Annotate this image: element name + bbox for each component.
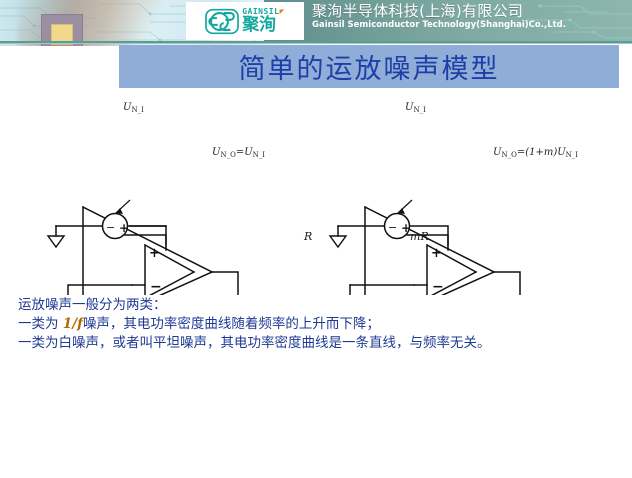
circuit-diagram-area: − + + − — [0, 90, 632, 295]
slide-footer: GAINSIL◤ www.gainsil.com — [0, 428, 632, 478]
company-name-en: Gainsil Semiconductor Technology(Shangha… — [312, 20, 612, 31]
right-opamp-plus-sign: + — [431, 246, 442, 261]
right-source-label: UN_I — [405, 102, 426, 114]
slide-canvas: GAINSIL◤ 聚洵 聚洵半导体科技(上海)有限公司 Gainsil Semi… — [0, 0, 632, 478]
opamp-noise-schematic: − + + − — [0, 90, 632, 295]
body-line-2: 一类为 1/f噪声，其电功率密度曲线随着频率的上升而下降； — [18, 315, 618, 334]
left-source-minus-sign: − — [106, 221, 115, 234]
left-source-label: UN_I — [123, 102, 144, 114]
resistor-R-label: R — [304, 230, 312, 243]
left-source-plus-sign: + — [119, 221, 129, 235]
right-opamp-minus-sign: − — [432, 279, 444, 295]
slide-header: GAINSIL◤ 聚洵 聚洵半导体科技(上海)有限公司 Gainsil Semi… — [0, 0, 632, 46]
right-source-minus-sign: − — [388, 221, 397, 234]
page-title: 简单的运放噪声模型 — [119, 45, 619, 88]
header-underline-secondary — [0, 43, 632, 44]
gainsil-mark-icon — [205, 8, 239, 35]
company-name-cn: 聚洵半导体科技(上海)有限公司 — [312, 3, 612, 20]
body-line-1: 运放噪声一般分为两类： — [18, 296, 618, 315]
body-text-block: 运放噪声一般分为两类： 一类为 1/f噪声，其电功率密度曲线随着频率的上升而下降… — [18, 296, 618, 353]
left-opamp-minus-sign: − — [150, 279, 162, 295]
one-over-f-emphasis: 1/f — [63, 316, 83, 332]
logo-chinese-wordmark: 聚洵 — [242, 17, 285, 34]
slide-title-bar: 简单的运放噪声模型 — [119, 45, 619, 88]
left-output-label: UN_O=UN_I — [212, 147, 265, 159]
body-line-3: 一类为白噪声，或者叫平坦噪声，其电功率密度曲线是一条直线，与频率无关。 — [18, 334, 618, 353]
left-opamp-plus-sign: + — [149, 246, 160, 261]
resistor-mR-label: mR — [410, 230, 429, 243]
company-name-block: 聚洵半导体科技(上海)有限公司 Gainsil Semiconductor Te… — [312, 3, 612, 31]
company-logo: GAINSIL◤ 聚洵 — [186, 2, 304, 40]
right-output-label: UN_O=(1+m)UN_I — [493, 147, 578, 159]
